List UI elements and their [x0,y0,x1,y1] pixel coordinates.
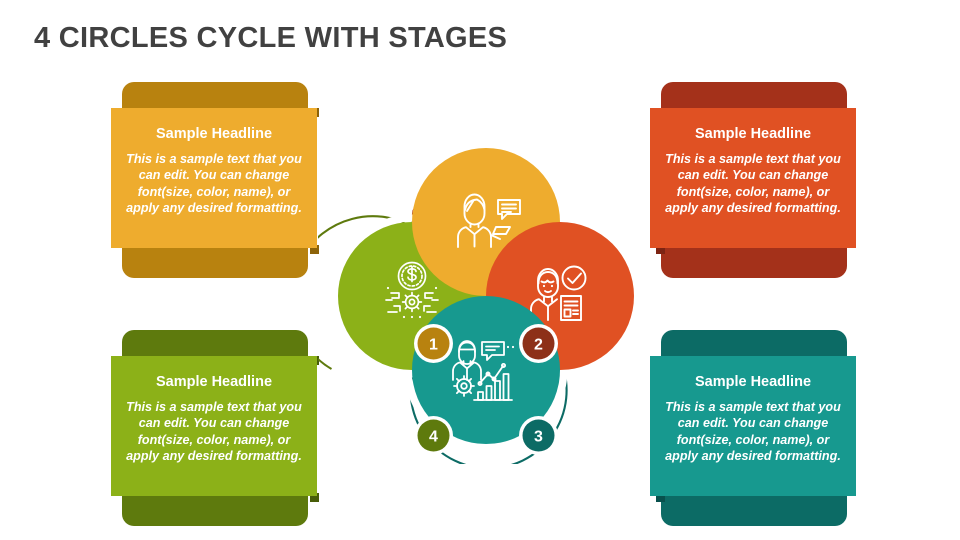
stage-badge-number: 3 [534,429,543,446]
stage-badge-number: 1 [429,337,438,354]
card-body-panel: Sample Headline This is a sample text th… [111,108,317,248]
stage-badge-number: 2 [534,337,543,354]
card-bottom-right[interactable]: Sample Headline This is a sample text th… [645,330,857,535]
card-description: This is a sample text that you can edit.… [664,151,842,217]
page-title: 4 CIRCLES CYCLE WITH STAGES [34,22,507,55]
card-description: This is a sample text that you can edit.… [125,399,303,465]
card-headline: Sample Headline [125,373,303,391]
stage-badge-3[interactable]: 3 [519,416,558,455]
card-description: This is a sample text that you can edit.… [664,399,842,465]
card-bottom-left[interactable]: Sample Headline This is a sample text th… [111,330,323,535]
card-headline: Sample Headline [664,125,842,143]
card-body-panel: Sample Headline This is a sample text th… [650,108,856,248]
card-top-right[interactable]: Sample Headline This is a sample text th… [645,82,857,287]
card-description: This is a sample text that you can edit.… [125,151,303,217]
stage-badge-1[interactable]: 1 [414,324,453,363]
cycle-diagram: 1 2 3 4 [318,128,654,464]
stage-badge-4[interactable]: 4 [414,416,453,455]
slide-canvas: 4 CIRCLES CYCLE WITH STAGES Sample Headl… [0,0,960,540]
card-body-panel: Sample Headline This is a sample text th… [650,356,856,496]
stage-badge-2[interactable]: 2 [519,324,558,363]
card-body-panel: Sample Headline This is a sample text th… [111,356,317,496]
card-headline: Sample Headline [125,125,303,143]
card-top-left[interactable]: Sample Headline This is a sample text th… [111,82,323,287]
card-headline: Sample Headline [664,373,842,391]
stage-badge-number: 4 [429,429,438,446]
